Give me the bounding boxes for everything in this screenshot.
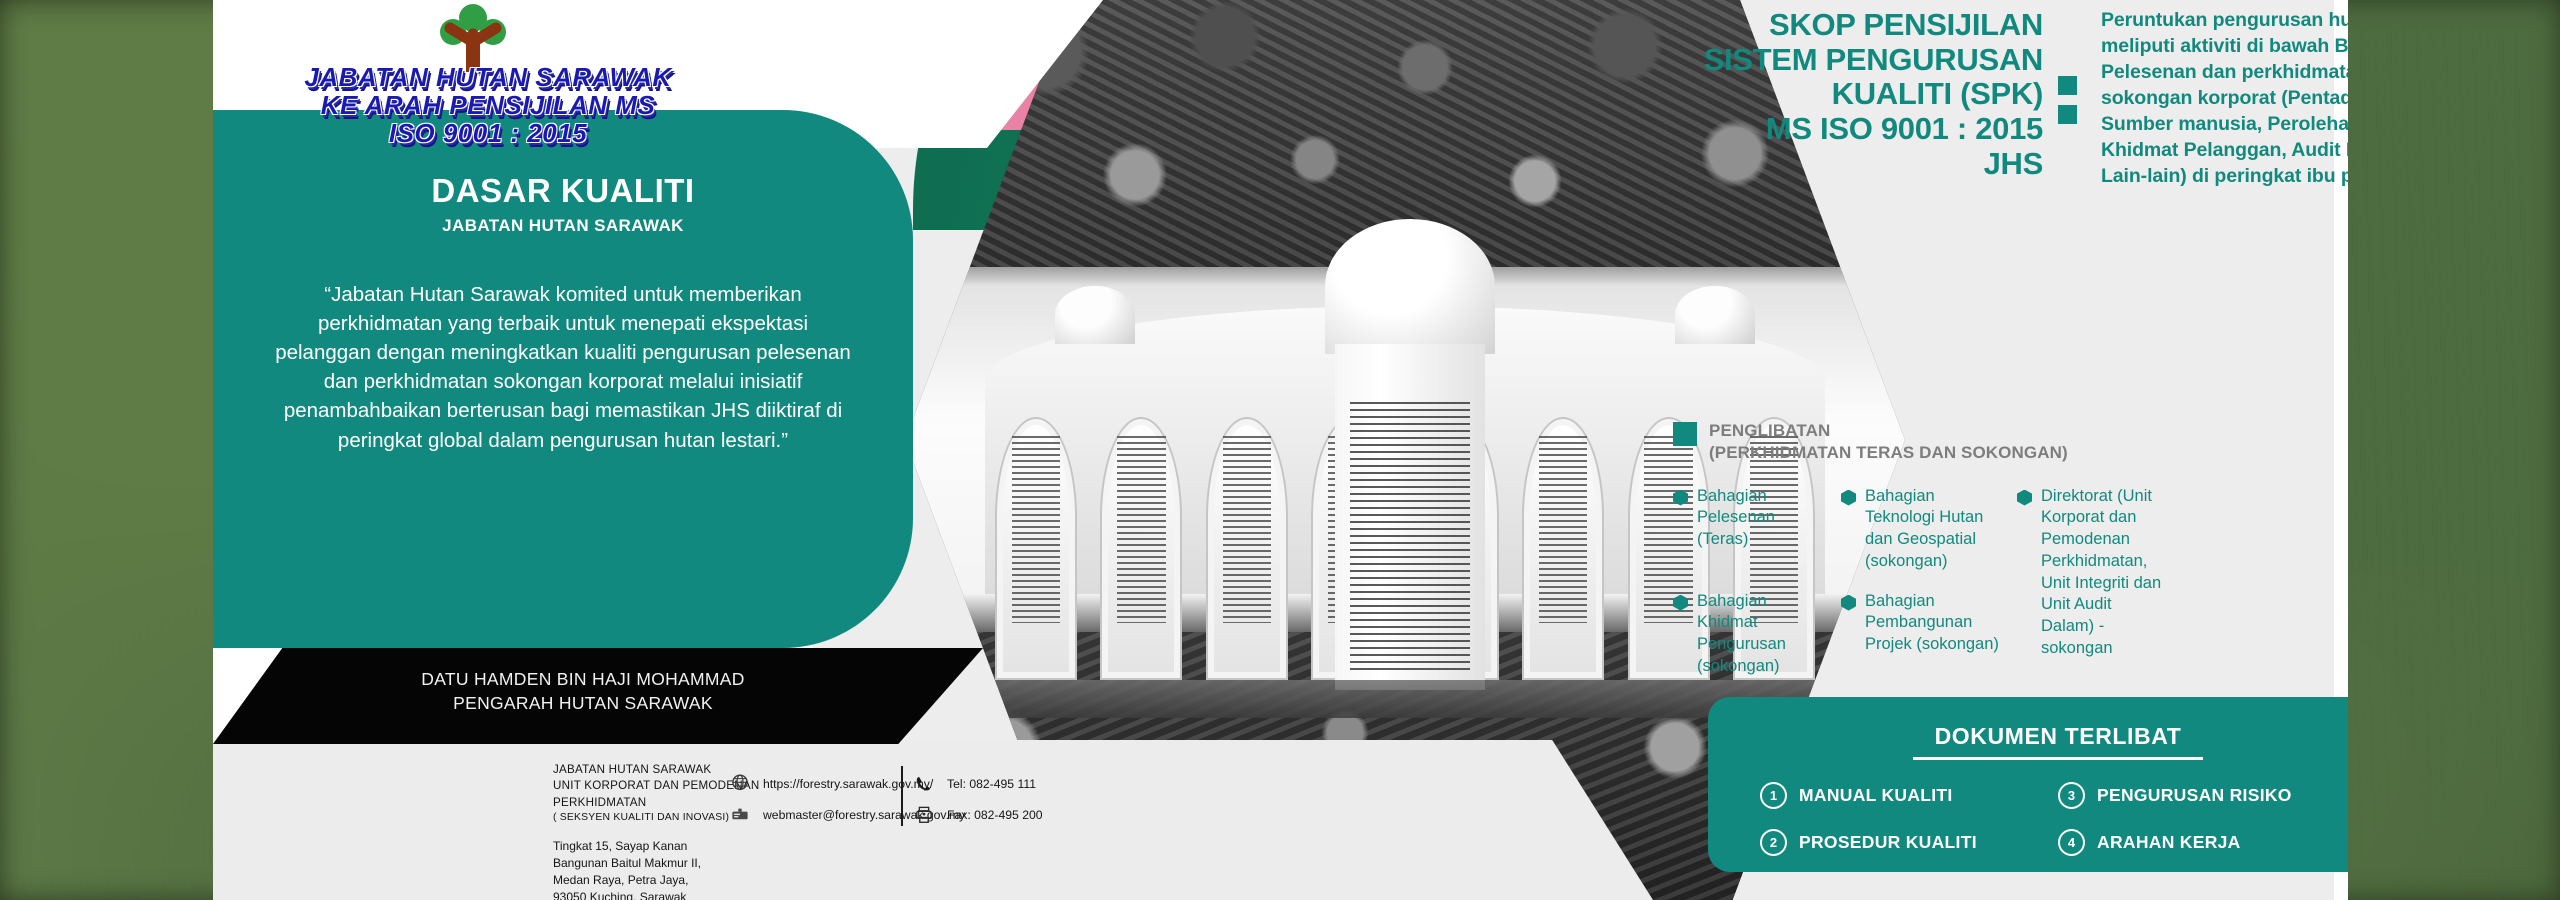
mail-server-icon	[729, 804, 751, 826]
logo-line-3: ISO 9001 : 2015	[228, 118, 748, 149]
jhs-logo: JABATAN HUTAN SARAWAK KE ARAH PENSIJILAN…	[228, 2, 748, 142]
address-line-4: 93050 Kuching, Sarawak	[553, 889, 759, 900]
skop-heading-line-4: MS ISO 9001 : 2015	[1603, 112, 2043, 147]
teal-square-icon	[1673, 422, 1697, 446]
dokumen-terlibat-title: DOKUMEN TERLIBAT	[1708, 697, 2348, 750]
penglibatan-item-label: Bahagian Pelesenan (Teras)	[1697, 486, 1827, 551]
hex-bullet-icon	[2017, 490, 2032, 506]
equals-sign-icon	[2058, 76, 2077, 134]
address-line-1: Tingkat 15, Sayap Kanan	[553, 838, 759, 855]
penglibatan-list: Bahagian Pelesenan (Teras) Bahagian Tekn…	[1673, 486, 2348, 678]
building-arch	[1522, 417, 1604, 680]
building-arch	[1100, 417, 1182, 680]
building-arch	[995, 417, 1077, 680]
logo-text-block: JABATAN HUTAN SARAWAK KE ARAH PENSIJILAN…	[228, 62, 748, 149]
building-tower-windows	[1350, 402, 1470, 671]
printer-icon	[913, 804, 935, 826]
fax-number: Fax: 082-495 200	[947, 808, 1043, 822]
quality-policy-title: DASAR KUALITI	[273, 172, 853, 210]
item-number-badge: 3	[2058, 782, 2085, 809]
list-item: Bahagian Teknologi Hutan dan Geospatial …	[1841, 486, 2003, 573]
penglibatan-item-label: Bahagian Khidmat Pengurusan (sokongan)	[1697, 591, 1827, 678]
dokumen-item-label: MANUAL KUALITI	[1799, 785, 1953, 806]
phone-icon	[913, 773, 935, 795]
address-line-3: Medan Raya, Petra Jaya,	[553, 872, 759, 889]
website-url[interactable]: https://forestry.sarawak.gov.my/	[763, 777, 933, 791]
fax-row: Fax: 082-495 200	[913, 799, 1043, 830]
item-number-badge: 4	[2058, 829, 2085, 856]
contact-phone-block: Tel: 082-495 111 Fax: 082-495 200	[913, 768, 1043, 830]
contact-divider	[901, 766, 903, 826]
list-item: 3 PENGURUSAN RISIKO	[2058, 782, 2348, 809]
list-item: Bahagian Pelesenan (Teras)	[1673, 486, 1827, 573]
telephone-row: Tel: 082-495 111	[913, 768, 1043, 799]
title-underline	[1913, 757, 2203, 760]
skop-heading-line-2: SISTEM PENGURUSAN	[1603, 43, 2043, 78]
list-item: 2 PROSEDUR KUALITI	[1760, 829, 2058, 856]
hex-bullet-icon	[1673, 595, 1688, 611]
skop-paragraph: Peruntukan pengurusan hutan meliputi akt…	[2101, 8, 2348, 189]
dokumen-item-label: ARAHAN KERJA	[2097, 832, 2241, 853]
penglibatan-item-label: Bahagian Pembangunan Projek (sokongan)	[1865, 591, 2003, 656]
list-item: 4 ARAHAN KERJA	[2058, 829, 2348, 856]
signatory-name: DATU HAMDEN BIN HAJI MOHAMMAD	[213, 667, 953, 691]
list-item: Bahagian Pembangunan Projek (sokongan)	[1841, 591, 2003, 678]
list-item: Direktorat (Unit Korporat dan Pemodenan …	[2017, 486, 2167, 678]
contact-address: Tingkat 15, Sayap Kanan Bangunan Baitul …	[553, 838, 759, 900]
dokumen-item-label: PROSEDUR KUALITI	[1799, 832, 1977, 853]
globe-icon	[729, 773, 751, 795]
signatory-text-block: DATU HAMDEN BIN HAJI MOHAMMAD PENGARAH H…	[213, 648, 953, 744]
quality-policy-content: DASAR KUALITI JABATAN HUTAN SARAWAK “Jab…	[213, 110, 913, 648]
item-number-badge: 2	[1760, 829, 1787, 856]
skop-heading-line-1: SKOP PENSIJILAN	[1603, 8, 2043, 43]
dokumen-terlibat-box: DOKUMEN TERLIBAT 1 MANUAL KUALITI 3 PENG…	[1708, 697, 2348, 872]
building-side-dome-right	[1675, 286, 1755, 344]
telephone-number: Tel: 082-495 111	[947, 777, 1036, 791]
hex-bullet-icon	[1673, 490, 1688, 506]
building-arch	[1206, 417, 1288, 680]
building-side-dome-left	[1055, 286, 1135, 344]
dokumen-terlibat-list: 1 MANUAL KUALITI 3 PENGURUSAN RISIKO 2 P…	[1708, 782, 2348, 856]
quality-policy-body: “Jabatan Hutan Sarawak komited untuk mem…	[273, 280, 853, 455]
quality-policy-subtitle: JABATAN HUTAN SARAWAK	[273, 216, 853, 236]
logo-line-1: JABATAN HUTAN SARAWAK	[228, 62, 748, 93]
skop-heading: SKOP PENSIJILAN SISTEM PENGURUSAN KUALIT…	[1603, 8, 2043, 182]
penglibatan-title: PENGLIBATAN (PERKHIDMATAN TERAS DAN SOKO…	[1709, 420, 2068, 464]
logo-line-2: KE ARAH PENSIJILAN MS	[228, 90, 748, 121]
building-central-dome	[1325, 219, 1495, 353]
penglibatan-section: PENGLIBATAN (PERKHIDMATAN TERAS DAN SOKO…	[1673, 420, 2348, 678]
skop-heading-line-5: JHS	[1603, 147, 2043, 182]
signatory-title: PENGARAH HUTAN SARAWAK	[213, 691, 953, 715]
penglibatan-title-line-2: (PERKHIDMATAN TERAS DAN SOKONGAN)	[1709, 442, 2068, 464]
penglibatan-item-label: Bahagian Teknologi Hutan dan Geospatial …	[1865, 486, 2003, 573]
list-item: 1 MANUAL KUALITI	[1760, 782, 2058, 809]
penglibatan-item-label: Direktorat (Unit Korporat dan Pemodenan …	[2041, 486, 2167, 660]
skop-heading-line-3: KUALITI (SPK)	[1603, 77, 2043, 112]
hex-bullet-icon	[1841, 595, 1856, 611]
address-line-2: Bangunan Baitul Makmur II,	[553, 855, 759, 872]
list-item: Bahagian Khidmat Pengurusan (sokongan)	[1673, 591, 1827, 678]
dokumen-item-label: PENGURUSAN RISIKO	[2097, 785, 2292, 806]
penglibatan-header: PENGLIBATAN (PERKHIDMATAN TERAS DAN SOKO…	[1673, 420, 2348, 464]
penglibatan-title-line-1: PENGLIBATAN	[1709, 420, 2068, 442]
infographic-sheet: JABATAN HUTAN SARAWAK KE ARAH PENSIJILAN…	[213, 0, 2348, 900]
hex-bullet-icon	[1841, 490, 1856, 506]
item-number-badge: 1	[1760, 782, 1787, 809]
